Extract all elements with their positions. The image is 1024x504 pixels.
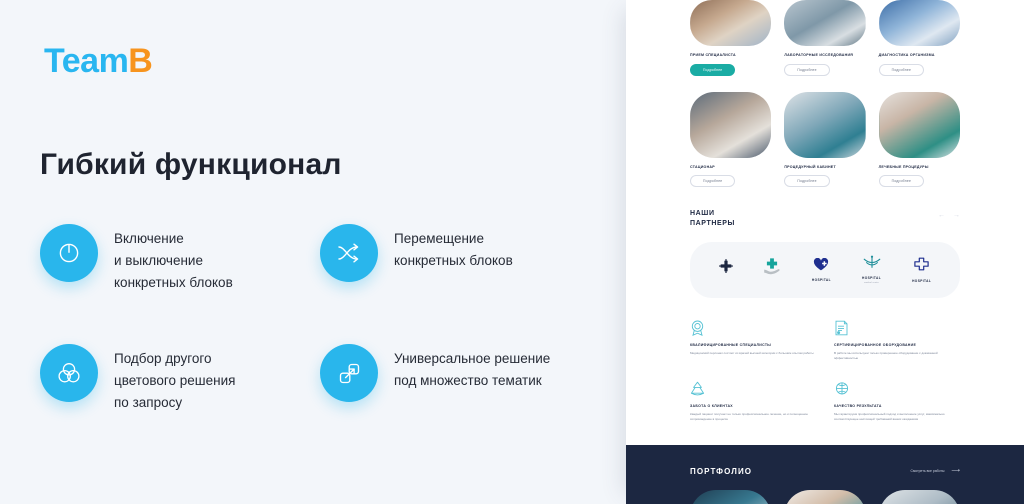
feature-item-shuffle: Перемещение конкретных блоков: [320, 222, 600, 342]
arrow-right-icon: ⟶: [951, 468, 960, 474]
advantage-description: Медицинский персонал состоит из врачей в…: [690, 351, 816, 356]
feature-item-power: Включение и выключение конкретных блоков: [40, 222, 298, 342]
left-presentation-panel: TeamB Гибкий функционал Включение и выкл…: [0, 0, 626, 504]
feature-item-label: Универсальное решение под множество тема…: [394, 342, 550, 392]
feature-item-label: Включение и выключение конкретных блоков: [114, 222, 233, 294]
portfolio-header: ПОРТФОЛИО Смотреть все работы ⟶: [690, 467, 960, 476]
page-title: Гибкий функционал: [40, 148, 342, 182]
feature-item-color-palette: Подбор другого цветового решения по запр…: [40, 342, 298, 462]
medal-icon: [690, 320, 816, 336]
service-photo: [879, 0, 960, 46]
arrow-right-icon[interactable]: →: [953, 212, 960, 219]
shuffle-icon: [320, 224, 378, 282]
feature-item-label: Подбор другого цветового решения по запр…: [114, 342, 235, 414]
service-card[interactable]: СТАЦИОНАР Подробнее: [690, 92, 771, 188]
partners-section: НАШИ ПАРТНЕРЫ ← →: [626, 187, 1024, 297]
website-mockup: ПРИЕМ СПЕЦИАЛИСТА Подробнее ЛАБОРАТОРНЫЕ…: [626, 0, 1024, 504]
service-details-button[interactable]: Подробнее: [690, 64, 735, 76]
partner-logo-name: HOSPITAL: [912, 279, 931, 283]
portfolio-photo[interactable]: [784, 490, 865, 504]
service-details-button[interactable]: Подробнее: [879, 64, 924, 76]
partner-logo-item[interactable]: HOSPITAL medical center: [861, 255, 883, 284]
cross-outline-icon: [913, 257, 930, 277]
color-circles-icon: [40, 344, 98, 402]
service-title: ПРОЦЕДУРНЫЙ КАБИНЕТ: [784, 165, 865, 170]
service-details-button[interactable]: Подробнее: [879, 175, 924, 187]
portfolio-view-all-label: Смотреть все работы: [911, 469, 945, 473]
partners-logo-strip: HOSPITAL HOSPITAL medical cen: [690, 242, 960, 298]
heart-cross-icon: [813, 258, 829, 276]
portfolio-title: ПОРТФОЛИО: [690, 467, 752, 476]
service-photo: [690, 92, 771, 158]
service-title: ПРИЕМ СПЕЦИАЛИСТА: [690, 53, 771, 58]
partner-logo-item[interactable]: HOSPITAL: [912, 257, 931, 283]
logo-text-accent: B: [128, 42, 152, 80]
partner-logo-name: HOSPITAL: [812, 278, 831, 282]
brain-icon: [834, 381, 960, 397]
partners-carousel-nav[interactable]: ← →: [938, 209, 960, 219]
service-card[interactable]: ПРИЕМ СПЕЦИАЛИСТА Подробнее: [690, 0, 771, 76]
service-card[interactable]: ЛАБОРАТОРНЫЕ ИССЛЕДОВАНИЯ Подробнее: [784, 0, 865, 76]
advantage-description: Каждый пациент получает не только профес…: [690, 412, 816, 423]
service-photo: [879, 92, 960, 158]
cross-pixel-icon: [719, 259, 733, 278]
partners-header: НАШИ ПАРТНЕРЫ ← →: [690, 209, 960, 229]
advantage-title: ЗАБОТА О КЛИЕНТАХ: [690, 404, 816, 408]
advantage-description: Мы гарантируем профессиональный подход и…: [834, 412, 960, 423]
logo-text-primary: Team: [44, 42, 128, 80]
service-photo: [784, 0, 865, 46]
service-title: ДИАГНОСТИКА ОРГАНИЗМА: [879, 53, 960, 58]
portfolio-view-all-link[interactable]: Смотреть все работы ⟶: [911, 468, 960, 474]
feature-item-universal: Универсальное решение под множество тема…: [320, 342, 600, 462]
partner-logo-item[interactable]: [762, 257, 782, 282]
services-grid-row-2: СТАЦИОНАР Подробнее ПРОЦЕДУРНЫЙ КАБИНЕТ …: [626, 92, 1024, 188]
screenshot-root: TeamB Гибкий функционал Включение и выкл…: [0, 0, 1024, 504]
service-photo: [784, 92, 865, 158]
website-preview-panel[interactable]: ПРИЕМ СПЕЦИАЛИСТА Подробнее ЛАБОРАТОРНЫЕ…: [626, 0, 1024, 504]
advantage-item: КАЧЕСТВО РЕЗУЛЬТАТА Мы гарантируем профе…: [834, 381, 960, 423]
certificate-icon: [834, 320, 960, 336]
partner-logo-item[interactable]: [719, 259, 733, 280]
service-title: ЛЕЧЕБНЫЕ ПРОЦЕДУРЫ: [879, 165, 960, 170]
partners-title: НАШИ ПАРТНЕРЫ: [690, 209, 735, 229]
portfolio-grid: [690, 490, 960, 504]
expand-blocks-icon: [320, 344, 378, 402]
advantage-item: ЗАБОТА О КЛИЕНТАХ Каждый пациент получае…: [690, 381, 816, 423]
arrow-left-icon[interactable]: ←: [938, 212, 945, 219]
caduceus-icon: [861, 255, 883, 274]
service-details-button[interactable]: Подробнее: [784, 64, 829, 76]
advantage-item: КВАЛИФИЦИРОВАННЫЕ СПЕЦИАЛИСТЫ Медицински…: [690, 320, 816, 362]
advantage-title: КАЧЕСТВО РЕЗУЛЬТАТА: [834, 404, 960, 408]
advantages-section: КВАЛИФИЦИРОВАННЫЕ СПЕЦИАЛИСТЫ Медицински…: [626, 298, 1024, 423]
advantage-title: КВАЛИФИЦИРОВАННЫЕ СПЕЦИАЛИСТЫ: [690, 343, 816, 347]
advantage-title: СЕРТИФИЦИРОВАННОЕ ОБОРУДОВАНИЕ: [834, 343, 960, 347]
feature-item-label: Перемещение конкретных блоков: [394, 222, 513, 272]
partner-logo-name: HOSPITAL: [862, 276, 881, 280]
portfolio-photo[interactable]: [690, 490, 771, 504]
portfolio-photo[interactable]: [879, 490, 960, 504]
service-card[interactable]: ДИАГНОСТИКА ОРГАНИЗМА Подробнее: [879, 0, 960, 76]
feature-list: Включение и выключение конкретных блоков…: [40, 222, 600, 462]
advantage-description: В работе мы используем только проверенно…: [834, 351, 960, 362]
service-title: СТАЦИОНАР: [690, 165, 771, 170]
logo[interactable]: TeamB: [44, 44, 152, 78]
advantage-item: СЕРТИФИЦИРОВАННОЕ ОБОРУДОВАНИЕ В работе …: [834, 320, 960, 362]
cross-in-hand-icon: [762, 257, 782, 280]
services-grid-row-1: ПРИЕМ СПЕЦИАЛИСТА Подробнее ЛАБОРАТОРНЫЕ…: [626, 0, 1024, 76]
partner-logo-subtitle: medical center: [864, 282, 879, 284]
care-hands-icon: [690, 381, 816, 397]
portfolio-section: ПОРТФОЛИО Смотреть все работы ⟶: [626, 445, 1024, 504]
service-details-button[interactable]: Подробнее: [690, 175, 735, 187]
service-title: ЛАБОРАТОРНЫЕ ИССЛЕДОВАНИЯ: [784, 53, 865, 58]
service-card[interactable]: ПРОЦЕДУРНЫЙ КАБИНЕТ Подробнее: [784, 92, 865, 188]
power-icon: [40, 224, 98, 282]
service-card[interactable]: ЛЕЧЕБНЫЕ ПРОЦЕДУРЫ Подробнее: [879, 92, 960, 188]
partner-logo-item[interactable]: HOSPITAL: [812, 258, 831, 282]
service-details-button[interactable]: Подробнее: [784, 175, 829, 187]
service-photo: [690, 0, 771, 46]
